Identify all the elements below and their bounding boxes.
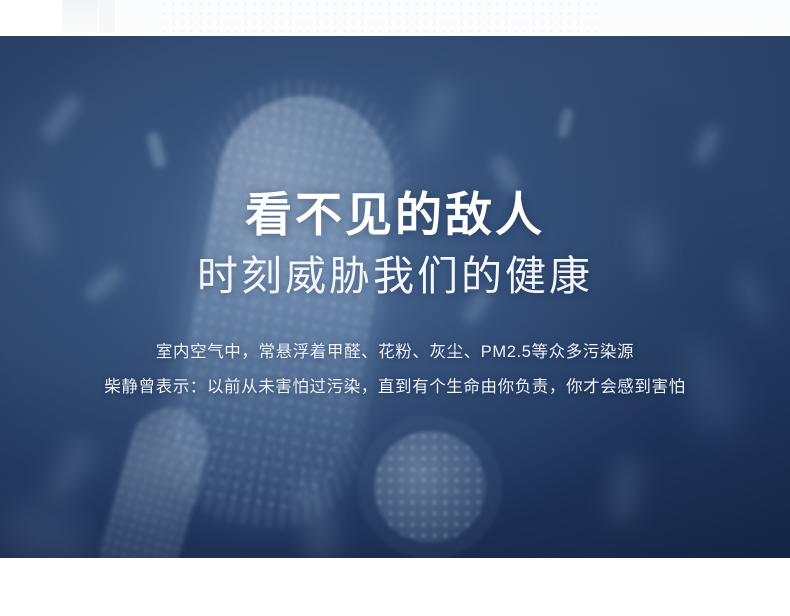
hero-banner: 看不见的敌人 时刻威胁我们的健康 室内空气中，常悬浮着甲醛、花粉、灰尘、PM2.… xyxy=(0,36,790,558)
hero-body-line-2: 柴静曾表示：以前从未害怕过污染，直到有个生命由你负责，你才会感到害怕 xyxy=(0,373,790,397)
hero-body-line-1: 室内空气中，常悬浮着甲醛、花粉、灰尘、PM2.5等众多污染源 xyxy=(0,338,790,362)
top-strip xyxy=(0,0,790,36)
top-strip-panel-divider xyxy=(99,0,115,33)
top-strip-panel-left xyxy=(62,0,98,33)
hero-title-main: 看不见的敌人 xyxy=(0,189,790,241)
hero-title-sub: 时刻威胁我们的健康 xyxy=(0,254,790,299)
top-strip-dot-texture xyxy=(160,0,600,33)
bottom-white-area xyxy=(0,558,790,616)
